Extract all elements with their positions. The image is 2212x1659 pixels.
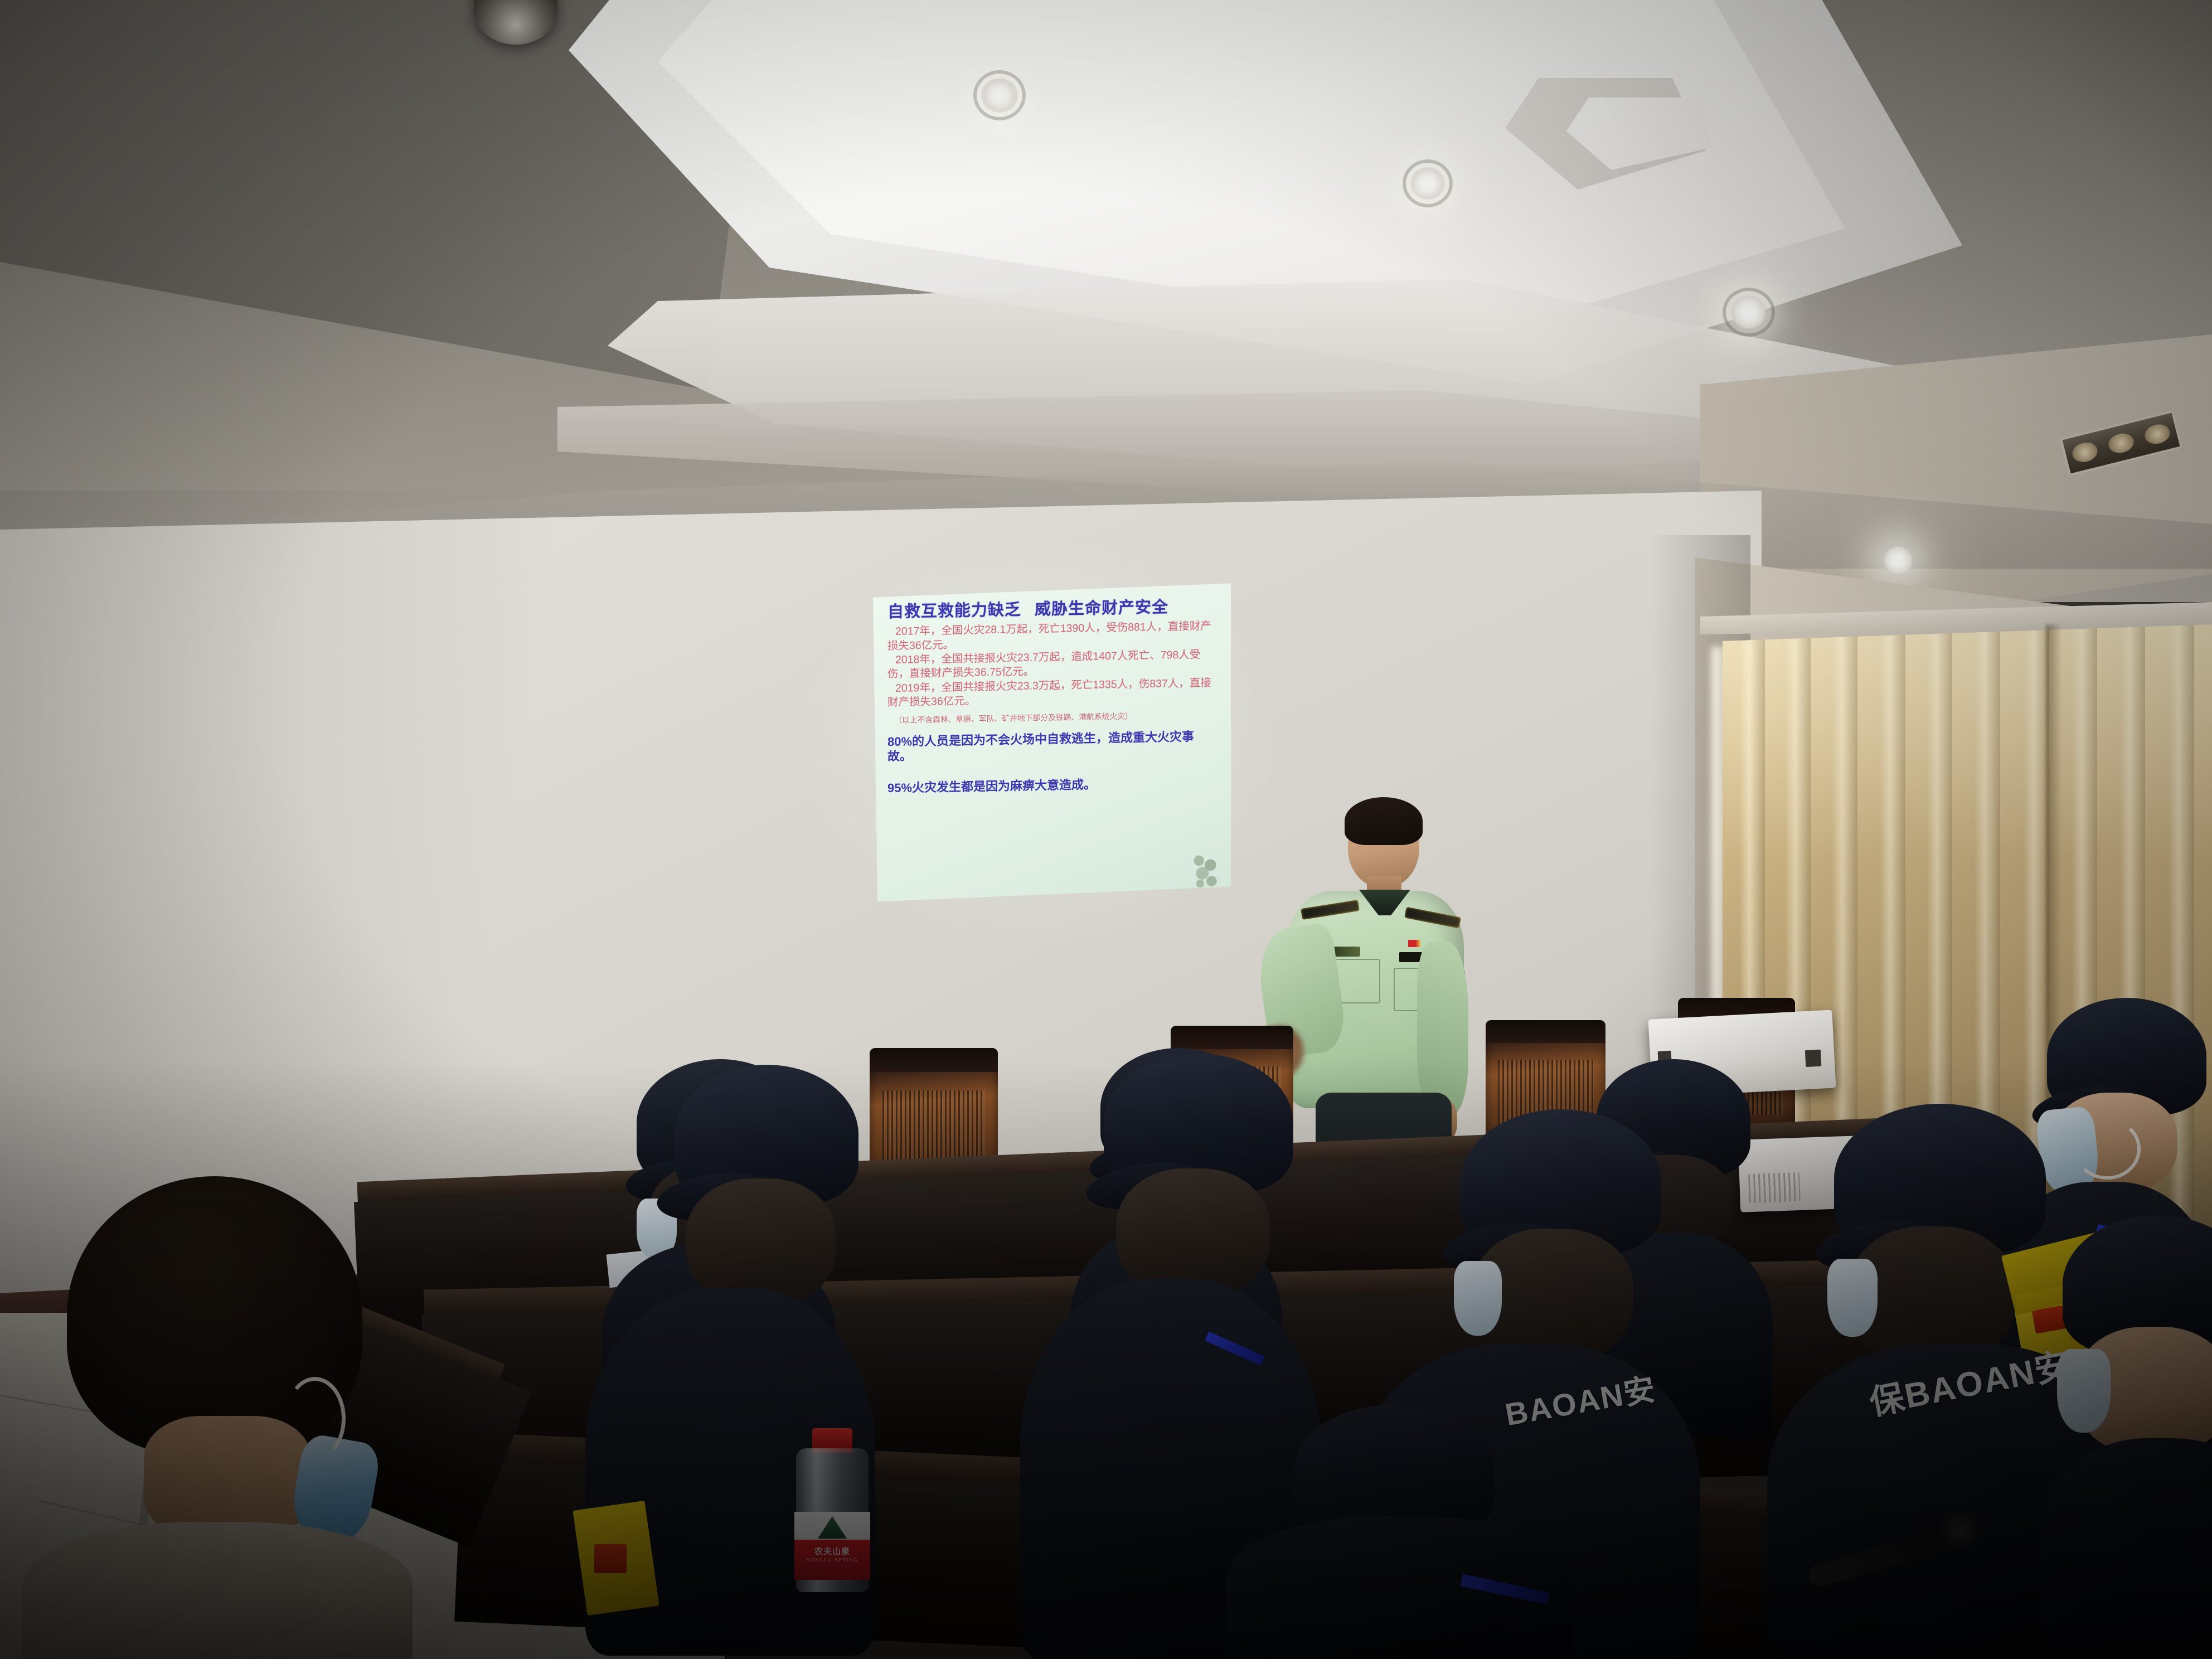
presenter-arm-right	[1417, 942, 1468, 1115]
spot-lamp-3	[2143, 422, 2172, 447]
face-mask	[1827, 1259, 1878, 1337]
bottle-brand-cn: 农夫山泉	[796, 1545, 869, 1557]
bottle-brand-en: NONGFU SPRING	[796, 1558, 869, 1563]
slide-title: 自救互救能力缺乏威胁生命财产安全	[887, 598, 1219, 621]
projected-slide: 自救互救能力缺乏威胁生命财产安全 2017年，全国火灾28.1万起，死亡1390…	[873, 583, 1231, 901]
slide-title-left: 自救互救能力缺乏	[887, 601, 1021, 621]
audience-member-foreground-left	[22, 1176, 413, 1659]
slide-footnote: （以上不含森林、草原、军队、矿井地下部分及铁路、港航系统火灾）	[887, 709, 1219, 725]
slide-point-1: 80%的人员是因为不会火场中自救逃生，造成重大火灾事故。	[887, 729, 1219, 764]
spot-lamp-1	[2070, 440, 2099, 464]
spot-lamp-2	[2107, 431, 2136, 455]
audience-torso	[22, 1522, 413, 1659]
conference-room-photo: 自救互救能力缺乏威胁生命财产安全 2017年，全国火灾28.1万起，死亡1390…	[0, 0, 2212, 1659]
ceiling-downlight-ring-1	[973, 70, 1026, 120]
ceiling-downlight-4	[1883, 546, 1913, 574]
ceiling-downlight-ring-2	[1403, 159, 1453, 207]
face-mask	[2057, 1349, 2111, 1433]
audience-member-10	[2040, 1215, 2212, 1659]
audience-torso	[2040, 1438, 2212, 1659]
mask-ear-loop	[284, 1377, 346, 1461]
slide-point-1-percent: 80%	[887, 734, 912, 749]
water-bottle[interactable]: 农夫山泉 NONGFU SPRING	[796, 1428, 869, 1607]
audience-member-11	[1226, 1405, 1572, 1659]
slide-point-2-percent: 95%	[887, 781, 912, 795]
face-mask	[1454, 1261, 1502, 1336]
case-latch	[1805, 1050, 1822, 1067]
chair-top-rail	[870, 1048, 998, 1072]
slide-point-2-text: 火灾发生都是因为麻痹大意造成。	[912, 778, 1096, 795]
ceiling-downlight-ring-3	[1723, 288, 1775, 337]
slide-title-right: 威胁生命财产安全	[1035, 598, 1168, 618]
slide-point-2: 95%火灾发生都是因为麻痹大意造成。	[887, 775, 1219, 796]
slide-statistics: 2017年，全国火灾28.1万起，死亡1390人，受伤881人，直接财产损失36…	[887, 619, 1219, 710]
presenter-flag-pin	[1408, 940, 1420, 947]
slide-stat-row: 2019年，全国共接报火灾23.3万起，死亡1335人，伤837人，直接财产损失…	[887, 676, 1219, 710]
chair-top-rail	[1486, 1020, 1605, 1043]
slide-point-1-text: 的人员是因为不会火场中自救逃生，造成重大火灾事故。	[887, 729, 1194, 763]
chair-top-rail	[1171, 1026, 1293, 1049]
microphone-head	[1940, 1511, 1979, 1550]
slide-watermark-logo	[1187, 852, 1222, 890]
presenter-hair	[1345, 797, 1423, 845]
arm-band-emblem	[594, 1544, 627, 1573]
